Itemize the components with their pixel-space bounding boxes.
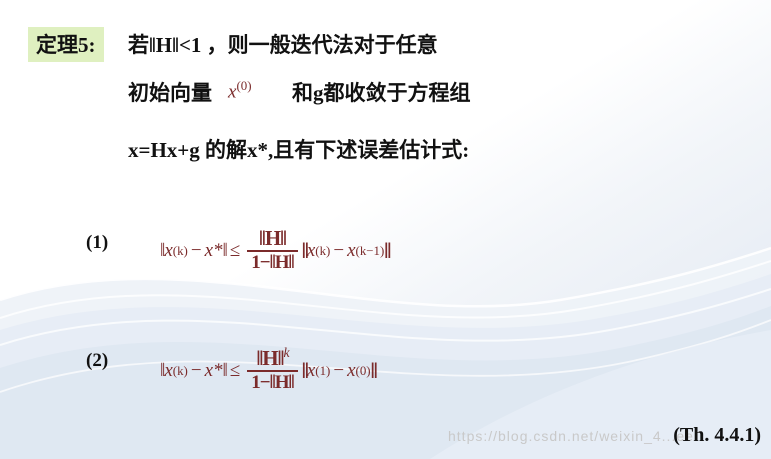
equation-number-1: (1)	[86, 232, 108, 254]
eq1-lhs-sup: (k)	[173, 243, 188, 259]
eq1-lhs-star: x*	[205, 240, 223, 262]
equation-number-2: (2)	[86, 350, 108, 372]
eq2-rhs-norm-close: ‖	[371, 358, 376, 384]
eq1-rhs-sup1: (k)	[315, 243, 330, 259]
eq2-lhs-var: x	[164, 360, 172, 382]
eq1-minus: −	[188, 240, 205, 262]
inline-math-x0: x(0)	[228, 78, 252, 103]
eq1-relation: ≤	[227, 240, 243, 262]
eq2-minus: −	[188, 360, 205, 382]
eq1-fraction-numerator: ‖H‖	[255, 227, 290, 250]
eq1-fraction: ‖H‖ 1−‖H‖	[247, 227, 297, 273]
theorem-statement-line-2-prefix: 初始向量	[128, 77, 212, 107]
inline-math-x0-superscript: (0)	[236, 78, 251, 93]
theorem-statement-line-2-suffix: 和g都收敛于方程组	[292, 77, 471, 107]
eq2-fraction: ‖H‖k 1−‖H‖	[247, 346, 297, 393]
eq1-rhs-var2: x	[347, 240, 355, 262]
eq2-rhs-sup2: (0)	[356, 363, 371, 379]
eq2-fraction-denominator: 1−‖H‖	[247, 372, 297, 394]
equation-2: ‖ x(k) − x* ‖ ≤ ‖H‖k 1−‖H‖ ‖ x(1) − x(0)…	[160, 347, 376, 394]
eq1-rhs-var1: x	[307, 240, 315, 262]
eq2-fraction-numerator: ‖H‖	[256, 346, 283, 370]
eq1-fraction-denominator: 1−‖H‖	[247, 252, 297, 274]
theorem-statement-line-3: x=Hx+g 的解x*,且有下述误差估计式:	[128, 134, 469, 164]
eq2-rhs-var1: x	[307, 360, 315, 382]
slide-canvas: 定理5: 若‖H‖<1 ，则一般迭代法对于任意 初始向量 x(0) 和g都收敛于…	[0, 0, 771, 459]
eq1-rhs-minus: −	[330, 240, 347, 262]
equation-1: ‖ x(k) − x* ‖ ≤ ‖H‖ 1−‖H‖ ‖ x(k) − x(k−1…	[160, 228, 389, 274]
eq2-fraction-numerator-exponent: k	[283, 345, 288, 360]
eq2-rhs-sup1: (1)	[315, 363, 330, 379]
theorem-label: 定理5:	[28, 27, 104, 62]
eq2-lhs-sup: (k)	[173, 363, 188, 379]
theorem-statement-line-1: 若‖H‖<1 ，则一般迭代法对于任意	[128, 29, 438, 59]
eq2-lhs-star: x*	[205, 360, 223, 382]
eq1-lhs-var: x	[164, 240, 172, 262]
eq2-rhs-var2: x	[347, 360, 355, 382]
eq2-rhs-minus: −	[330, 360, 347, 382]
eq1-rhs-norm-close: ‖	[384, 238, 389, 264]
theorem-reference: (Th. 4.4.1)	[673, 424, 761, 447]
eq2-fraction-numerator-wrap: ‖H‖k	[252, 346, 292, 370]
eq2-relation: ≤	[227, 360, 243, 382]
watermark-text: https://blog.csdn.net/weixin_4...ee	[448, 428, 694, 444]
eq1-rhs-sup2: (k−1)	[356, 243, 385, 259]
